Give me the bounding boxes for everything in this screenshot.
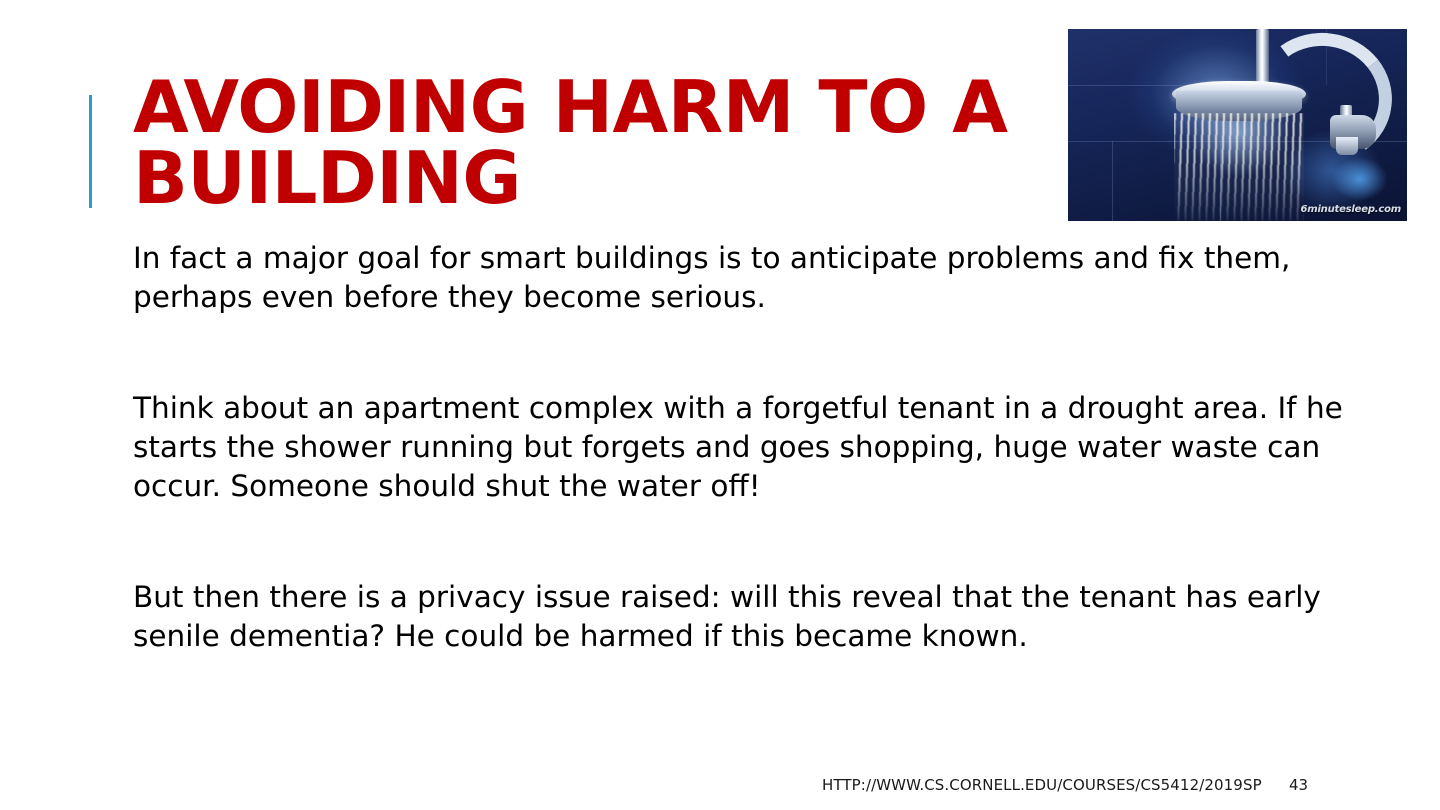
body-paragraph-2: Think about an apartment complex with a … <box>133 389 1376 506</box>
footer-course-url[interactable]: http://www.cs.cornell.edu/courses/cs5412… <box>822 776 1262 794</box>
shower-head-image: 6minutesleep.com <box>1068 29 1407 221</box>
slide-body: In fact a major goal for smart buildings… <box>133 239 1376 656</box>
slide-page-number: 43 <box>1289 776 1308 794</box>
slide: Avoiding harm to a building 6minutesleep… <box>0 0 1440 810</box>
body-paragraph-3: But then there is a privacy issue raised… <box>133 578 1376 656</box>
blue-light-flare <box>1332 157 1388 201</box>
image-watermark: 6minutesleep.com <box>1300 204 1401 215</box>
water-spray <box>1174 113 1304 221</box>
slide-footer: http://www.cs.cornell.edu/courses/cs5412… <box>0 776 1440 798</box>
shower-nozzle <box>1336 137 1358 155</box>
title-accent-bar <box>89 95 92 208</box>
body-paragraph-1: In fact a major goal for smart buildings… <box>133 239 1376 317</box>
tile-grout-line <box>1112 141 1113 221</box>
tile-grout-line <box>1068 85 1190 86</box>
